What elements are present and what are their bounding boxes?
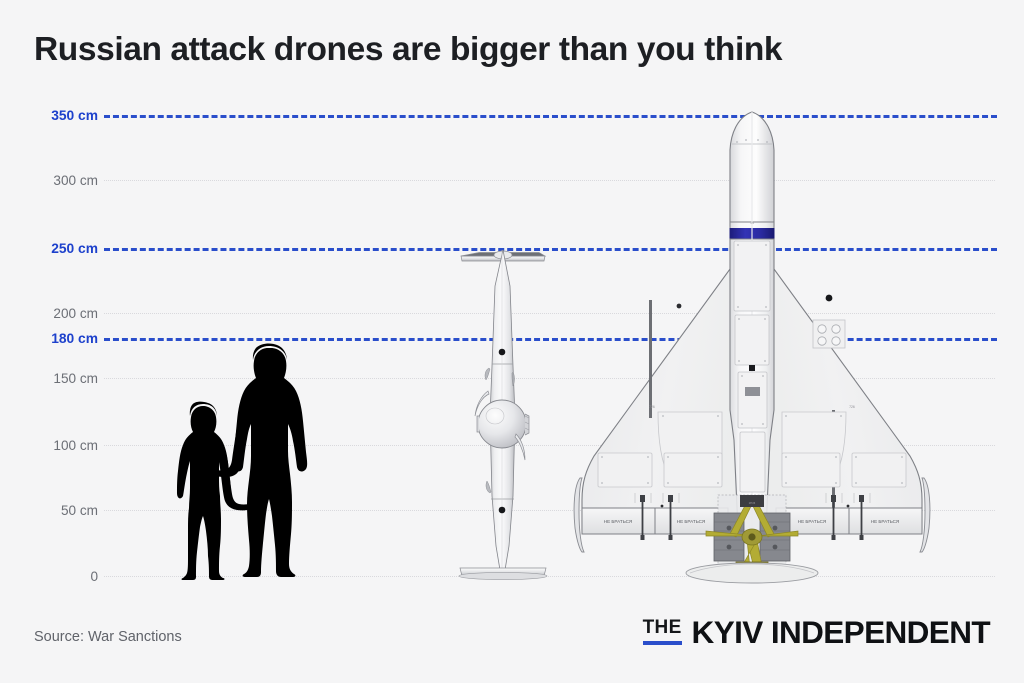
logo-blue-rule: [643, 641, 682, 645]
shahed-marking-ne-bratsya-1: НЕ БРАТЬСЯ: [604, 519, 633, 524]
tick-label-180: 180 cm: [26, 331, 98, 346]
tick-label-0: 0: [26, 569, 98, 584]
tick-label-200: 200 cm: [26, 306, 98, 321]
source-caption: Source: War Sanctions: [34, 629, 182, 645]
shahed-marking-wing-right-726: 726: [849, 405, 855, 409]
shahed-marking-ne-bratsya-3: НЕ БРАТЬСЯ: [798, 519, 827, 524]
tick-label-250: 250 cm: [26, 241, 98, 256]
shahed-marking-ne-bratsya-2: НЕ БРАТЬСЯ: [677, 519, 706, 524]
lancet-lower-wing: [459, 568, 547, 580]
infographic-canvas: Russian attack drones are bigger than yo…: [0, 0, 1024, 683]
logo-the-text: THE: [643, 618, 682, 637]
shahed-sensor-block: [745, 387, 760, 396]
logo-the-block: THE: [643, 618, 682, 649]
lancet-drone-front-view: [443, 246, 563, 580]
shahed-wing-stud-right: [826, 295, 833, 302]
shahed-geran-drone-front-view: 726: [566, 110, 938, 580]
tick-label-300: 300 cm: [26, 173, 98, 188]
shahed-tail-plane: [686, 563, 818, 583]
tick-label-150: 150 cm: [26, 371, 98, 386]
tick-label-50: 50 cm: [26, 503, 98, 518]
logo-wordmark: KYIV INDEPENDENT: [692, 617, 990, 649]
human-scale-silhouettes: [168, 336, 358, 578]
shahed-wing-stud-left: [677, 304, 682, 309]
kyiv-independent-logo[interactable]: THE KYIV INDEPENDENT: [643, 617, 990, 649]
shahed-marking-nose-726: 726: [750, 221, 755, 225]
shahed-fuselage-sensor: [749, 365, 755, 371]
tick-label-350: 350 cm: [26, 108, 98, 123]
shahed-marking-wing-left-726: 726: [649, 405, 655, 409]
shahed-marking-engine-m726: M726: [749, 501, 756, 505]
shahed-connector-panel: [813, 320, 845, 348]
shahed-antenna-mast: [649, 300, 652, 418]
shahed-marking-ne-bratsya-4: НЕ БРАТЬСЯ: [871, 519, 900, 524]
tick-label-100: 100 cm: [26, 438, 98, 453]
